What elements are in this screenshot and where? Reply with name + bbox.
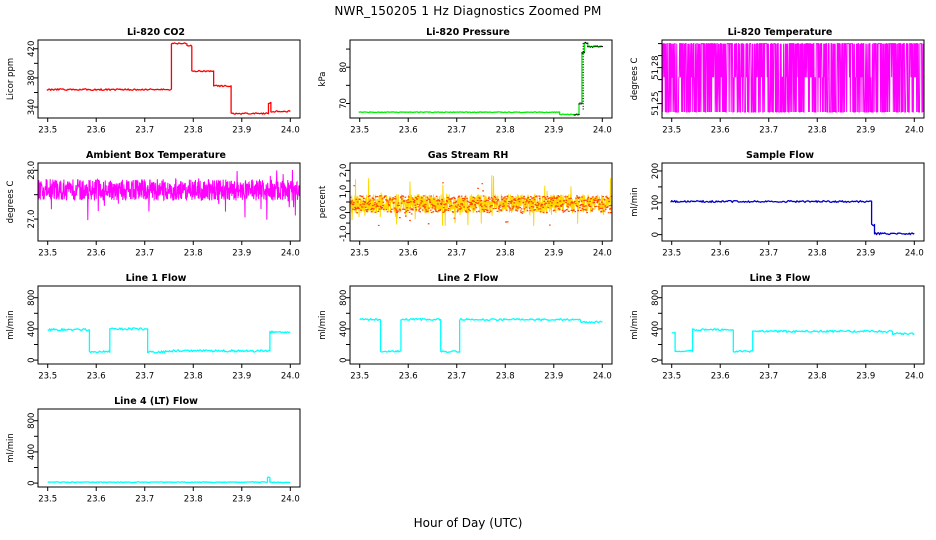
- y-axis-label: ml/min: [630, 187, 640, 217]
- x-tick-label: 23.5: [38, 126, 57, 136]
- x-tick-label: 23.8: [496, 126, 515, 136]
- panel-li820-temperature: Li-820 Temperature23.523.623.723.823.924…: [624, 24, 936, 150]
- panel-line-1-flow: Line 1 Flow23.523.623.723.823.924.004008…: [0, 270, 312, 396]
- x-tick-label: 23.8: [808, 372, 827, 382]
- y-tick-label: 800: [651, 290, 661, 306]
- panel-li820-co2: Li-820 CO223.523.623.723.823.924.0340380…: [0, 24, 312, 150]
- y-tick-label: 0: [339, 357, 349, 362]
- x-tick-label: 24.0: [281, 126, 300, 136]
- figure-title: NWR_150205 1 Hz Diagnostics Zoomed PM: [0, 4, 936, 18]
- x-tick-label: 24.0: [905, 249, 924, 259]
- x-tick-label: 23.9: [544, 249, 563, 259]
- x-tick-label: 23.8: [496, 372, 515, 382]
- x-tick-label: 23.6: [711, 249, 730, 259]
- x-tick-label: 23.9: [232, 372, 251, 382]
- x-tick-label: 23.6: [711, 372, 730, 382]
- y-tick-label: 0: [27, 480, 37, 485]
- x-tick-label: 23.6: [399, 249, 418, 259]
- x-tick-label: 23.7: [135, 372, 154, 382]
- x-tick-label: 24.0: [593, 249, 612, 259]
- panel-title: Ambient Box Temperature: [86, 150, 226, 161]
- x-tick-label: 24.0: [905, 126, 924, 136]
- plot-box: [350, 40, 612, 118]
- panel-title: Gas Stream RH: [428, 150, 509, 161]
- panel-title: Line 3 Flow: [750, 273, 811, 284]
- x-tick-label: 23.5: [38, 372, 57, 382]
- panel-title: Line 1 Flow: [126, 273, 187, 284]
- plot-area: [349, 175, 612, 226]
- y-axis-label: ml/min: [318, 310, 328, 340]
- x-tick-label: 23.9: [232, 249, 251, 259]
- x-tick-label: 23.8: [496, 249, 515, 259]
- panel-title: Li-820 Temperature: [728, 27, 833, 38]
- plot-box: [38, 409, 300, 487]
- x-tick-label: 23.8: [184, 495, 203, 505]
- y-axis-label: percent: [318, 185, 328, 218]
- x-tick-label: 23.8: [184, 126, 203, 136]
- plot-area: [359, 42, 603, 116]
- panel-line-2-flow: Line 2 Flow23.523.623.723.823.924.004008…: [312, 270, 624, 396]
- x-tick-label: 23.5: [350, 249, 369, 259]
- x-tick-label: 23.6: [711, 126, 730, 136]
- plot-box: [662, 286, 924, 364]
- x-tick-label: 23.9: [856, 126, 875, 136]
- plot-box: [38, 40, 300, 118]
- y-tick-label: 200: [651, 163, 661, 179]
- x-tick-label: 23.9: [856, 249, 875, 259]
- y-tick-label: 400: [27, 321, 37, 337]
- y-tick-label: 420: [27, 41, 37, 57]
- x-tick-label: 23.7: [759, 372, 778, 382]
- y-tick-label: 400: [651, 321, 661, 337]
- plot-area: [38, 170, 300, 220]
- plot-box: [38, 286, 300, 364]
- x-tick-label: 23.9: [856, 372, 875, 382]
- x-tick-label: 23.5: [38, 495, 57, 505]
- x-tick-label: 24.0: [905, 372, 924, 382]
- x-tick-label: 23.7: [447, 249, 466, 259]
- x-tick-label: 24.0: [593, 372, 612, 382]
- y-axis-label: ml/min: [6, 433, 16, 463]
- y-tick-label: 0.0: [339, 206, 349, 220]
- x-tick-label: 23.7: [447, 372, 466, 382]
- x-tick-label: 23.6: [87, 126, 106, 136]
- panel-title: Li-820 CO2: [127, 27, 185, 38]
- x-tick-label: 24.0: [281, 372, 300, 382]
- panel-ambient-box-temperature: Ambient Box Temperature23.523.623.723.82…: [0, 147, 312, 273]
- panel-title: Li-820 Pressure: [426, 27, 510, 38]
- x-tick-label: 23.5: [350, 126, 369, 136]
- y-axis-label: Licor ppm: [6, 58, 16, 100]
- x-tick-label: 23.6: [399, 372, 418, 382]
- x-tick-label: 24.0: [281, 249, 300, 259]
- plot-box: [350, 286, 612, 364]
- x-tick-label: 23.5: [350, 372, 369, 382]
- y-axis-label: degrees C: [630, 58, 640, 101]
- y-axis-label: degrees C: [6, 181, 16, 224]
- x-tick-label: 23.5: [662, 372, 681, 382]
- y-tick-label: 800: [339, 290, 349, 306]
- x-tick-label: 23.8: [184, 372, 203, 382]
- panel-sample-flow: Sample Flow23.523.623.723.823.924.001002…: [624, 147, 936, 273]
- panel-line-3-flow: Line 3 Flow23.523.623.723.823.924.004008…: [624, 270, 936, 396]
- x-tick-label: 23.7: [135, 249, 154, 259]
- x-tick-label: 24.0: [281, 495, 300, 505]
- diagnostics-figure: NWR_150205 1 Hz Diagnostics Zoomed PM Li…: [0, 0, 936, 540]
- plot-area: [48, 477, 291, 483]
- y-tick-label: 51.28: [651, 55, 661, 79]
- x-tick-label: 23.7: [447, 126, 466, 136]
- y-tick-label: 1.0: [339, 185, 349, 199]
- y-axis-label: ml/min: [6, 310, 16, 340]
- plot-area: [48, 328, 291, 353]
- plot-area: [360, 319, 603, 353]
- plot-area: [672, 329, 915, 352]
- panel-title: Line 4 (LT) Flow: [114, 396, 198, 407]
- figure-xaxis-label: Hour of Day (UTC): [0, 516, 936, 530]
- y-tick-label: 70: [339, 98, 349, 109]
- y-tick-label: 340: [27, 99, 37, 115]
- y-tick-label: 80: [339, 62, 349, 73]
- panel-li820-pressure: Li-820 Pressure23.523.623.723.823.924.07…: [312, 24, 624, 150]
- y-tick-label: 800: [27, 290, 37, 306]
- x-tick-label: 23.9: [232, 126, 251, 136]
- panel-title: Sample Flow: [746, 150, 814, 161]
- x-tick-label: 23.9: [544, 126, 563, 136]
- x-tick-label: 23.5: [38, 249, 57, 259]
- x-tick-label: 23.8: [808, 249, 827, 259]
- x-tick-label: 24.0: [593, 126, 612, 136]
- x-tick-label: 23.7: [135, 126, 154, 136]
- y-tick-label: -1.0: [339, 225, 349, 242]
- x-tick-label: 23.8: [808, 126, 827, 136]
- y-tick-label: 0: [27, 357, 37, 362]
- y-tick-label: 380: [27, 70, 37, 86]
- y-tick-label: 28.0: [27, 161, 37, 180]
- x-tick-label: 23.6: [87, 372, 106, 382]
- panel-gas-stream-rh: Gas Stream RH23.523.623.723.823.924.0-1.…: [312, 147, 624, 273]
- x-tick-label: 23.7: [759, 126, 778, 136]
- x-tick-label: 23.7: [135, 495, 154, 505]
- y-tick-label: 400: [27, 444, 37, 460]
- y-tick-label: 0: [651, 232, 661, 237]
- y-tick-label: 27.0: [27, 210, 37, 229]
- x-tick-label: 23.7: [759, 249, 778, 259]
- x-tick-label: 23.9: [544, 372, 563, 382]
- y-tick-label: 0: [651, 357, 661, 362]
- plot-area: [662, 44, 924, 112]
- x-tick-label: 23.8: [184, 249, 203, 259]
- panel-title: Line 2 Flow: [438, 273, 499, 284]
- y-tick-label: 800: [27, 413, 37, 429]
- x-tick-label: 23.9: [232, 495, 251, 505]
- y-tick-label: 400: [339, 321, 349, 337]
- y-tick-label: 2.0: [339, 164, 349, 178]
- plot-area: [671, 201, 915, 235]
- y-axis-label: kPa: [318, 72, 328, 87]
- y-tick-label: 51.25: [651, 91, 661, 115]
- y-axis-label: ml/min: [630, 310, 640, 340]
- x-tick-label: 23.5: [662, 126, 681, 136]
- y-tick-label: 100: [651, 195, 661, 211]
- x-tick-label: 23.5: [662, 249, 681, 259]
- panel-line-4-lt-flow: Line 4 (LT) Flow23.523.623.723.823.924.0…: [0, 393, 312, 519]
- x-tick-label: 23.6: [399, 126, 418, 136]
- x-tick-label: 23.6: [87, 249, 106, 259]
- x-tick-label: 23.6: [87, 495, 106, 505]
- plot-area: [47, 43, 291, 114]
